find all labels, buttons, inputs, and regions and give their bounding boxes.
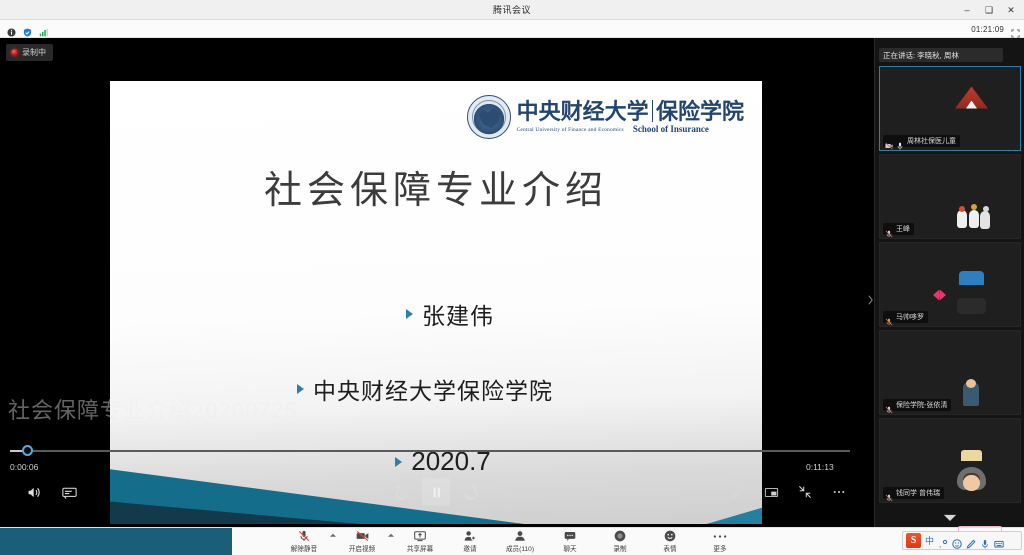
participant-namebar: 钱同学 曾伟瑞: [883, 487, 944, 499]
maximize-button[interactable]: ❑: [978, 0, 1000, 20]
mic-muted-icon: [885, 489, 893, 497]
participant-name: 钱同学 曾伟瑞: [896, 488, 940, 498]
participant-namebar: 马帅哆罗: [883, 311, 928, 323]
pause-button[interactable]: [422, 478, 450, 506]
toolbar-item-label: 表情: [663, 543, 676, 553]
scrubber-handle[interactable]: [22, 445, 33, 456]
participant-name: 保险学院-张依清: [896, 400, 947, 410]
mic-muted-icon: [885, 313, 893, 321]
toolbar-more-button[interactable]: 更多: [695, 528, 745, 555]
toolbar-invite-button[interactable]: 邀请: [445, 528, 495, 555]
participant-name: 马帅哆罗: [896, 312, 924, 322]
logo-university-en: Central University of Finance and Econom…: [517, 127, 624, 134]
panel-collapse-button[interactable]: [866, 287, 875, 313]
participant-tile[interactable]: 马帅哆罗: [879, 242, 1021, 327]
more-options-icon[interactable]: [825, 478, 853, 506]
annotate-pencil-icon[interactable]: [723, 478, 751, 506]
participant-namebar: 王峰: [883, 223, 914, 235]
meeting-timer: 01:21:09: [971, 25, 1004, 34]
video-options-caret-icon[interactable]: [387, 528, 395, 555]
logo-school-cn: 保险学院: [656, 100, 744, 123]
svg-text:10: 10: [398, 495, 405, 501]
half-width-icon[interactable]: ,: [938, 536, 948, 546]
scrubber-track[interactable]: [10, 450, 850, 452]
ime-toolbar[interactable]: S 中 ,: [902, 531, 1022, 550]
meeting-stage: 录制中 中央财经大学 保险学院 Central University of Fi…: [0, 38, 1024, 527]
participant-tile[interactable]: 钱同学 曾伟瑞: [879, 418, 1021, 503]
bullet-triangle-icon: [297, 384, 304, 394]
speaking-indicator: 正在讲话: 李晓秋, 周林: [875, 48, 1024, 62]
participant-namebar: 保险学院-张依清: [883, 399, 951, 411]
window-title-bar: 腾讯会议 – ❑ ✕: [0, 0, 1024, 20]
slide-bullet: 中央财经大学保险学院: [110, 372, 762, 406]
slide-title: 社会保障专业介绍: [110, 159, 762, 214]
mini-player-icon[interactable]: [757, 478, 785, 506]
chat-icon: [564, 530, 576, 542]
sogou-logo-icon[interactable]: S: [906, 533, 921, 548]
toolbar-item-label: 聊天: [563, 543, 576, 553]
unmute-options-caret-icon[interactable]: [329, 528, 337, 555]
invite-icon: [464, 530, 476, 542]
exit-fullscreen-icon[interactable]: [791, 478, 819, 506]
svg-text:,: ,: [939, 540, 941, 549]
presentation-slide: 中央财经大学 保险学院 Central University of Financ…: [110, 81, 762, 524]
signal-icon[interactable]: [39, 24, 48, 33]
mic-on-icon: [896, 137, 904, 145]
recording-badge: 录制中: [6, 44, 53, 61]
mic-icon[interactable]: [980, 536, 990, 546]
window-title: 腾讯会议: [493, 3, 531, 16]
playback-scrubber[interactable]: [10, 450, 850, 452]
emoji-icon: [664, 530, 676, 542]
participant-tile[interactable]: 王峰: [879, 154, 1021, 239]
toolbar-unmute-button[interactable]: 解除静音: [279, 528, 329, 555]
slide-bullet: 张建伟: [138, 297, 762, 331]
slide-bullet-label: 中央财经大学保险学院: [313, 372, 553, 406]
more-dots-icon: [713, 530, 727, 542]
video-off-icon: [885, 137, 893, 145]
forward-30-icon[interactable]: 30: [456, 478, 484, 506]
toolbar-item-label: 成员(110): [506, 543, 534, 553]
toolbar-item-label: 解除静音: [291, 543, 317, 553]
participant-scroll-down-button[interactable]: [875, 509, 1024, 525]
meeting-status-bar: 01:21:09: [0, 20, 1024, 38]
toolbar-item-label: 更多: [713, 543, 726, 553]
share-screen-icon: [414, 530, 426, 542]
keyboard-icon[interactable]: [994, 536, 1004, 546]
toolbar-emoji-button[interactable]: 表情: [645, 528, 695, 555]
fullscreen-icon[interactable]: [1011, 25, 1020, 34]
meeting-toolbar: 解除静音 开启视频 共享屏幕 邀请: [0, 527, 1024, 555]
toolbar-item-label: 共享屏幕: [407, 543, 433, 553]
logo-university-cn: 中央财经大学: [517, 100, 649, 123]
participant-name: 王峰: [896, 224, 910, 234]
meeting-status-right: 01:21:09: [971, 20, 1020, 38]
subtitles-icon[interactable]: [55, 478, 83, 506]
logo-divider: [652, 100, 653, 122]
bullet-triangle-icon: [406, 309, 413, 319]
shield-icon[interactable]: [23, 24, 32, 33]
toolbar-left-fill: [0, 528, 232, 555]
toolbar-item-label: 开启视频: [349, 543, 375, 553]
mic-muted-icon: [885, 225, 893, 233]
speaking-label: 正在讲话: 李晓秋, 周林: [883, 50, 959, 61]
participant-panel: 正在讲话: 李晓秋, 周林 周林社保医儿童: [874, 38, 1024, 527]
minimize-button[interactable]: –: [956, 0, 978, 20]
slide-bullet-label: 张建伟: [422, 297, 494, 331]
university-logo: 中央财经大学 保险学院 Central University of Financ…: [467, 95, 744, 139]
record-icon: [614, 530, 626, 542]
toolbar-item-label: 邀请: [463, 543, 476, 553]
participant-tile[interactable]: 保险学院-张依清: [879, 330, 1021, 415]
video-off-icon: [356, 530, 369, 542]
toolbar-chat-button[interactable]: 聊天: [545, 528, 595, 555]
toolbar-record-button[interactable]: 录制: [595, 528, 645, 555]
ime-mode-label[interactable]: 中: [925, 534, 934, 547]
player-controls-row: 10 30: [0, 478, 1024, 518]
toolbar-members-button[interactable]: 成员(110): [495, 528, 545, 555]
participant-namebar: 周林社保医儿童: [883, 135, 960, 147]
toolbar-share-screen-button[interactable]: 共享屏幕: [395, 528, 445, 555]
toolbar-item-label: 录制: [613, 543, 626, 553]
university-seal-icon: [467, 95, 511, 139]
duration-label: 0:11:13: [806, 462, 834, 472]
participant-tiles: 周林社保医儿童 王峰: [879, 66, 1021, 506]
emoji-icon[interactable]: [952, 536, 962, 546]
logo-text-block: 中央财经大学 保险学院 Central University of Financ…: [517, 100, 744, 134]
rewind-10-icon[interactable]: 10: [388, 478, 416, 506]
svg-text:30: 30: [466, 495, 473, 501]
recording-dot-icon: [11, 49, 18, 56]
participant-tile[interactable]: 周林社保医儿童: [879, 66, 1021, 151]
logo-school-en: School of Insurance: [633, 124, 709, 134]
participant-name: 周林社保医儿童: [907, 136, 956, 146]
meeting-status-icons: [0, 24, 48, 33]
tencent-meeting-window: 腾讯会议 – ❑ ✕ 01:21:09: [0, 0, 1024, 555]
pen-icon[interactable]: [966, 536, 976, 546]
mic-muted-icon: [298, 530, 310, 542]
members-icon: [514, 530, 526, 542]
toolbar-start-video-button[interactable]: 开启视频: [337, 528, 387, 555]
info-icon[interactable]: [7, 24, 16, 33]
mic-muted-icon: [885, 401, 893, 409]
current-time-label: 0:00:06: [10, 462, 38, 472]
close-button[interactable]: ✕: [1000, 0, 1022, 20]
volume-icon[interactable]: [20, 478, 48, 506]
window-controls: – ❑ ✕: [956, 0, 1022, 20]
recording-label: 录制中: [22, 47, 46, 58]
